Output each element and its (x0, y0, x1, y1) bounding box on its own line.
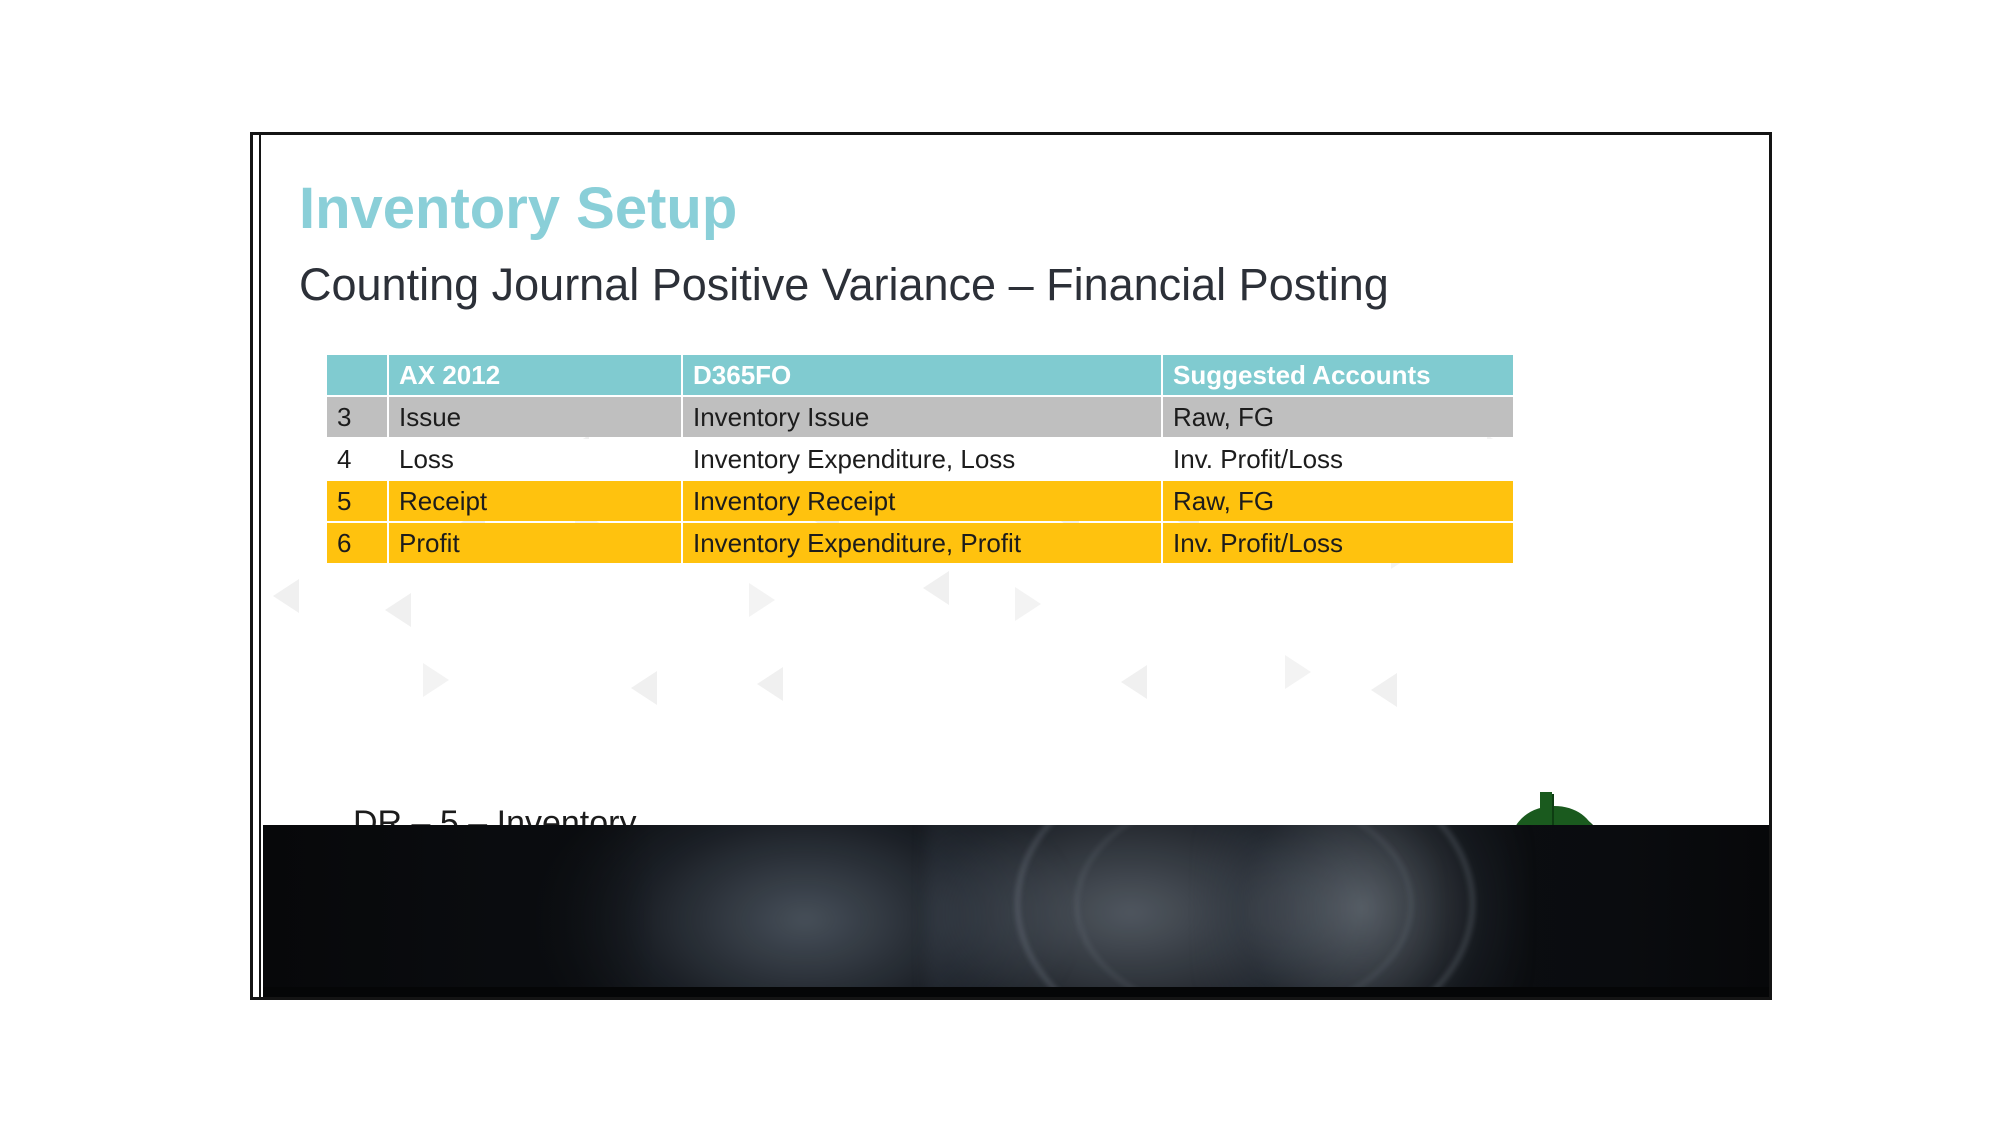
row-number: 5 (327, 481, 387, 521)
cell-ax2012: Profit (389, 523, 681, 563)
table-row: 3 Issue Inventory Issue Raw, FG (327, 397, 1513, 437)
slide-frame-inner-edge (253, 135, 261, 997)
row-number: 6 (327, 523, 387, 563)
table-row: 4 Loss Inventory Expenditure, Loss Inv. … (327, 439, 1513, 479)
page-title: Inventory Setup (299, 175, 737, 242)
table-row: 6 Profit Inventory Expenditure, Profit I… (327, 523, 1513, 563)
slide-frame: Inventory Setup Counting Journal Positiv… (250, 132, 1772, 1000)
cell-accounts: Inv. Profit/Loss (1163, 523, 1513, 563)
row-number: 4 (327, 439, 387, 479)
cell-ax2012: Issue (389, 397, 681, 437)
cell-accounts: Raw, FG (1163, 481, 1513, 521)
table-row: 5 Receipt Inventory Receipt Raw, FG (327, 481, 1513, 521)
cell-d365fo: Inventory Expenditure, Loss (683, 439, 1161, 479)
slide-canvas: Inventory Setup Counting Journal Positiv… (263, 135, 1769, 997)
table-header-row: AX 2012 D365FO Suggested Accounts (327, 355, 1513, 395)
page-subtitle: Counting Journal Positive Variance – Fin… (299, 259, 1389, 311)
table-header-accounts: Suggested Accounts (1163, 355, 1513, 395)
cell-ax2012: Receipt (389, 481, 681, 521)
table-header-num (327, 355, 387, 395)
cell-d365fo: Inventory Expenditure, Profit (683, 523, 1161, 563)
table-header-d365fo: D365FO (683, 355, 1161, 395)
cell-accounts: Inv. Profit/Loss (1163, 439, 1513, 479)
table-header-ax2012: AX 2012 (389, 355, 681, 395)
row-number: 3 (327, 397, 387, 437)
posting-table-wrapper: AX 2012 D365FO Suggested Accounts 3 Issu… (325, 353, 1515, 565)
posting-table: AX 2012 D365FO Suggested Accounts 3 Issu… (325, 353, 1515, 565)
footer-image-band (263, 825, 1769, 997)
cell-accounts: Raw, FG (1163, 397, 1513, 437)
cell-d365fo: Inventory Issue (683, 397, 1161, 437)
cell-ax2012: Loss (389, 439, 681, 479)
cell-d365fo: Inventory Receipt (683, 481, 1161, 521)
